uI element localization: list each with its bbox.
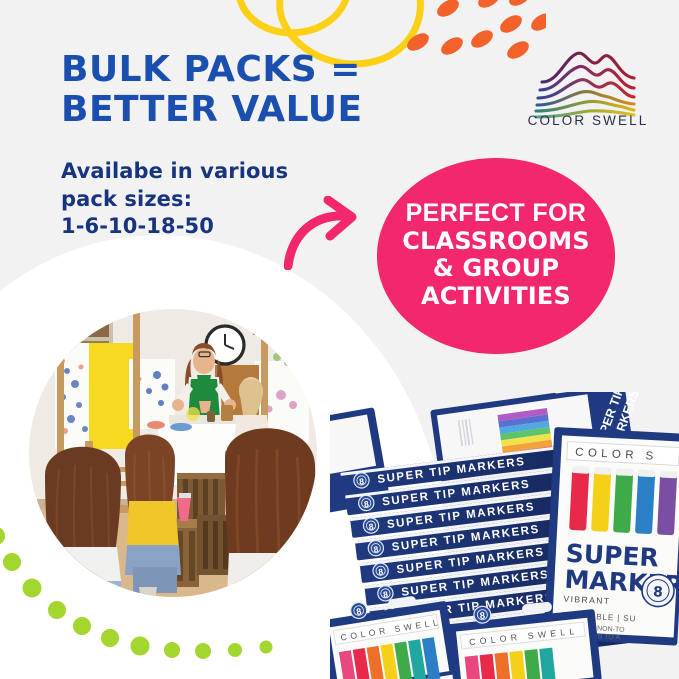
badge-line-2: CLASSROOMS [402, 228, 589, 256]
pack-front-count: 8 [653, 584, 664, 600]
headline-line-2: BETTER VALUE [61, 90, 391, 130]
subheadline-line-1: Availabe in various [61, 158, 341, 186]
badge-line-1: PERFECT FOR [406, 199, 587, 228]
art-classroom-photo [29, 309, 317, 597]
photo-ring [18, 298, 328, 608]
product-pack-cluster: SUPER TIP MARKERS SUPER TIP [330, 392, 679, 679]
curved-arrow-right-icon [284, 196, 380, 270]
headline-line-1: BULK PACKS = [61, 49, 361, 90]
badge-line-3: & GROUP [433, 255, 559, 283]
status-badge: PERFECT FOR CLASSROOMS & GROUP ACTIVITIE… [377, 158, 615, 354]
logo-wordmark: COLOR SWELL [524, 113, 652, 128]
infographic-canvas: BULK PACKS = BETTER VALUE Availabe in va… [0, 0, 679, 679]
headline: BULK PACKS = BETTER VALUE [61, 50, 391, 131]
badge-line-4: ACTIVITIES [421, 283, 571, 311]
svg-text:8: 8 [479, 610, 485, 621]
